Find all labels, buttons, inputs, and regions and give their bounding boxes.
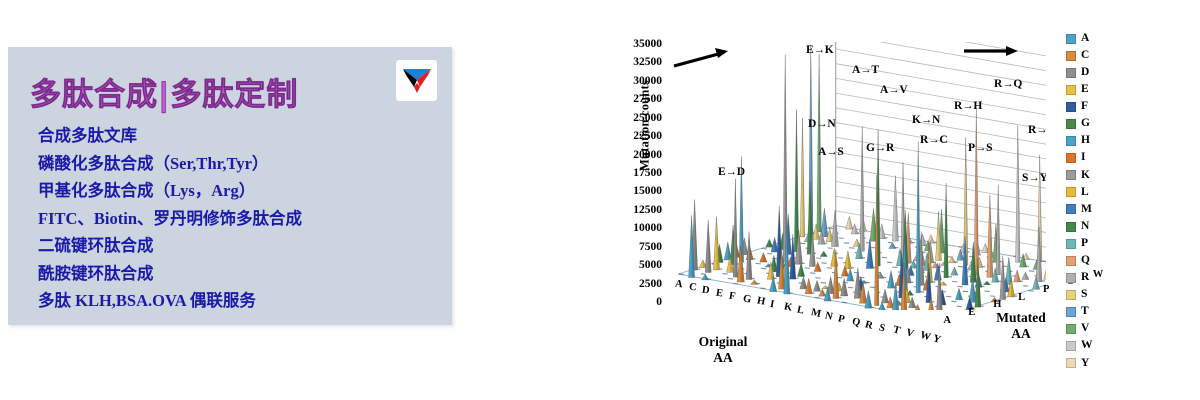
floor-cell-marker (800, 243, 805, 244)
floor-cell-marker (1029, 271, 1034, 272)
list-item: FITC、Biotin、罗丹明修饰多肽合成 (38, 205, 444, 233)
legend-item[interactable]: K (1066, 167, 1122, 184)
legend-item[interactable]: C (1066, 47, 1122, 64)
floor-cell-marker (941, 291, 946, 292)
plot-area: E→KA→TA→VD→NK→NR→CR→HR→QR→WG→RA→SP→SS→YE… (666, 42, 1046, 310)
peak-annotation: D→N (808, 118, 836, 130)
legend-item[interactable]: T (1066, 304, 1122, 321)
legend-label: E (1081, 84, 1089, 96)
z-tick-label: 35000 (633, 38, 662, 50)
peak-annotation: K→N (912, 114, 940, 126)
legend-color-swatch (1066, 85, 1076, 95)
peak-annotation: R→C (920, 134, 948, 146)
legend-item[interactable]: A (1066, 30, 1122, 47)
legend-color-swatch (1066, 34, 1076, 44)
list-item: 二硫键环肽合成 (38, 232, 444, 260)
peak-annotation: P→S (968, 142, 992, 154)
floor-cell-marker (810, 273, 815, 274)
bar-spike-shade (819, 54, 821, 232)
legend-color-swatch (1066, 68, 1076, 78)
peak-annotation: R→Q (994, 78, 1022, 90)
mutation-counts-3d-chart: Mutation counts 350003250030000275002500… (578, 22, 1138, 382)
x-tick-label: P (837, 313, 846, 325)
legend-color-swatch (1066, 102, 1076, 112)
legend-item[interactable]: L (1066, 184, 1122, 201)
x-axis-title-line1: Original (699, 334, 748, 349)
x-tick-label: C (688, 281, 697, 293)
x-tick-label: Y (932, 333, 943, 346)
x-axis-title: Original AA (678, 334, 768, 366)
x-tick-label: G (742, 293, 752, 305)
x-tick-label: A (674, 279, 683, 291)
z-tick-label: 0 (656, 296, 662, 308)
z-tick-label: 27500 (633, 93, 662, 105)
floor-cell-marker (957, 286, 962, 287)
floor-cell-marker (844, 243, 849, 244)
legend-label: K (1081, 170, 1090, 182)
y-tick-label: H (993, 299, 1001, 310)
floor-cell-marker (838, 258, 843, 259)
peak-annotation: G→R (866, 142, 894, 154)
legend-label: I (1081, 152, 1085, 164)
list-item: 合成多肽文库 (38, 122, 444, 150)
x-tick-label: V (905, 327, 915, 340)
floor-cell-marker (815, 297, 820, 298)
floor-cell-marker (887, 262, 892, 263)
legend-color-swatch (1066, 290, 1076, 300)
legend-color-swatch (1066, 187, 1076, 197)
company-logo (396, 60, 437, 101)
floor-cell-marker (892, 267, 897, 268)
floor-cell-marker (756, 263, 761, 264)
x-tick-label: E (715, 287, 724, 299)
x-axis-title-line2: AA (713, 350, 733, 365)
z-tick-label: 7500 (639, 241, 662, 253)
x-tick-label: S (878, 322, 887, 334)
list-item: 多肽 KLH,BSA.OVA 偶联服务 (38, 287, 444, 315)
floor-cell-marker (816, 258, 821, 259)
peak-annotation: R→W (1028, 124, 1046, 136)
legend-color-swatch (1066, 324, 1076, 334)
promo-service-list: 合成多肽文库 磷酸化多肽合成（Ser,Thr,Tyr） 甲基化多肽合成（Lys，… (38, 122, 444, 315)
floor-cell-marker (985, 291, 990, 292)
x-tick-label: N (823, 310, 833, 322)
legend-color-swatch (1066, 273, 1076, 283)
floor-cell-marker (990, 296, 995, 297)
grid-line (836, 93, 1046, 138)
legend-item[interactable]: G (1066, 115, 1122, 132)
peak-annotation: A→V (880, 84, 908, 96)
legend-label: S (1081, 289, 1087, 301)
legend-item[interactable]: P (1066, 235, 1122, 252)
peak-annotation: E→K (806, 44, 834, 56)
z-tick-label: 25000 (633, 112, 662, 124)
floor-cell-marker (842, 302, 847, 303)
floor-cell-marker (828, 228, 833, 229)
legend-color-swatch (1066, 256, 1076, 266)
grid-line (836, 167, 1046, 212)
legend-color-swatch (1066, 341, 1076, 351)
list-item: 磷酸化多肽合成（Ser,Thr,Tyr） (38, 150, 444, 178)
legend-label: M (1081, 204, 1092, 216)
bar-spike-shade (695, 200, 698, 271)
z-tick-label: 10000 (633, 222, 662, 234)
legend-label: G (1081, 118, 1090, 130)
y-tick-label: A (943, 315, 951, 326)
z-tick-label: 15000 (633, 185, 662, 197)
legend-item[interactable]: F (1066, 98, 1122, 115)
x-tick-label: L (796, 304, 805, 316)
floor-cell-marker (761, 268, 766, 269)
y-axis-title-line2: AA (1011, 326, 1031, 341)
floor-cell-marker (952, 281, 957, 282)
y-axis-title-line1: Mutated (996, 310, 1046, 325)
floor-cell-marker (821, 283, 826, 284)
z-tick-label: 2500 (639, 278, 662, 290)
floor-cell-marker (946, 296, 951, 297)
legend-label: L (1081, 187, 1089, 199)
peak-annotation: S→Y (1022, 172, 1046, 184)
legend-item[interactable]: I (1066, 150, 1122, 167)
x-tick-label: K (783, 301, 793, 313)
floor-cell-marker (848, 287, 853, 288)
legend-label: T (1081, 306, 1089, 318)
y-tick-label: E (968, 307, 975, 318)
peak-annotation: A→S (818, 146, 844, 158)
floor-cell-marker (837, 277, 842, 278)
floor-cell-marker (958, 266, 963, 267)
legend-color-swatch (1066, 170, 1076, 180)
legend-item[interactable]: N (1066, 218, 1122, 235)
peak-annotation: R→H (954, 100, 982, 112)
legend-item[interactable]: Y (1066, 355, 1122, 372)
chart-legend: ACDEFGHIKLMNPQRSTVWY (1066, 30, 1122, 372)
floor-cell-marker (951, 301, 956, 302)
z-axis-ticks: 3500032500300002750025000225002000017500… (600, 44, 662, 302)
peak-annotation: E→D (718, 166, 745, 178)
floor-cell-marker (805, 268, 810, 269)
y-tick-label: L (1018, 292, 1025, 303)
legend-label: H (1081, 135, 1090, 147)
promo-title: 多肽合成|多肽定制 (30, 69, 298, 114)
floor-cell-marker (957, 306, 962, 307)
z-tick-label: 22500 (633, 130, 662, 142)
legend-item[interactable]: D (1066, 64, 1122, 81)
floor-cell-marker (1028, 291, 1033, 292)
floor-cell-marker (728, 278, 733, 279)
legend-label: V (1081, 323, 1089, 335)
legend-label: C (1081, 50, 1089, 62)
legend-color-swatch (1066, 153, 1076, 163)
y-axis-title: Mutated AA (976, 310, 1066, 342)
legend-item[interactable]: W (1066, 338, 1122, 355)
list-item: 酰胺键环肽合成 (38, 260, 444, 288)
floor-cell-marker (839, 238, 844, 239)
legend-item[interactable]: R (1066, 269, 1122, 286)
legend-label: P (1081, 238, 1088, 250)
legend-color-swatch (1066, 239, 1076, 249)
legend-color-swatch (1066, 358, 1076, 368)
legend-item[interactable]: Q (1066, 252, 1122, 269)
legend-color-swatch (1066, 204, 1076, 214)
z-tick-label: 32500 (633, 56, 662, 68)
floor-cell-marker (882, 257, 887, 258)
grid-line (836, 42, 1046, 64)
legend-color-swatch (1066, 51, 1076, 61)
floor-cell-marker (733, 283, 738, 284)
floor-cell-marker (963, 291, 968, 292)
legend-label: Y (1081, 358, 1089, 370)
floor-cell-marker (821, 263, 826, 264)
floor-cell-marker (815, 278, 820, 279)
floor-cell-marker (859, 277, 864, 278)
x-tick-label: D (701, 284, 710, 296)
floor-cell-marker (767, 253, 772, 254)
z-tick-label: 17500 (633, 167, 662, 179)
legend-item[interactable]: S (1066, 286, 1122, 303)
legend-color-swatch (1066, 136, 1076, 146)
legend-color-swatch (1066, 222, 1076, 232)
legend-item[interactable]: E (1066, 81, 1122, 98)
floor-cell-marker (849, 248, 854, 249)
legend-label: A (1081, 33, 1089, 45)
legend-label: R (1081, 272, 1089, 284)
x-tick-label: W (918, 330, 931, 344)
y-tick-label: P (1043, 284, 1049, 295)
trend-arrow-left (674, 48, 728, 66)
floor-cell-marker (762, 248, 767, 249)
z-tick-label: 30000 (633, 75, 662, 87)
x-tick-label: H (756, 296, 766, 308)
legend-color-swatch (1066, 307, 1076, 317)
legend-label: Q (1081, 255, 1090, 267)
floor-cell-marker (870, 287, 875, 288)
company-logo-triangle-icon (400, 65, 434, 97)
floor-cell-marker (722, 274, 727, 275)
floor-cell-marker (679, 274, 684, 275)
peak-annotation: A→T (852, 64, 879, 76)
z-tick-label: 5000 (639, 259, 662, 271)
legend-label: N (1081, 221, 1089, 233)
list-item: 甲基化多肽合成（Lys，Arg） (38, 177, 444, 205)
promo-panel: 多肽合成|多肽定制 合成多肽文库 磷酸化多肽合成（Ser,Thr,Tyr） 甲基… (8, 47, 452, 325)
legend-item[interactable]: M (1066, 201, 1122, 218)
legend-label: F (1081, 101, 1088, 113)
legend-item[interactable]: V (1066, 321, 1122, 338)
floor-cell-marker (1023, 286, 1028, 287)
floor-cell-marker (827, 248, 832, 249)
legend-color-swatch (1066, 119, 1076, 129)
trend-arrows (674, 46, 1018, 66)
x-tick-label: Q (851, 316, 862, 329)
floor-cell-marker (827, 268, 832, 269)
legend-item[interactable]: H (1066, 133, 1122, 150)
legend-label: W (1081, 340, 1093, 352)
floor-cell-marker (760, 288, 765, 289)
x-tick-label: M (810, 307, 822, 320)
bar-spike-shade (720, 244, 724, 262)
trend-arrow-right (964, 46, 1018, 56)
x-tick-label: R (864, 319, 874, 332)
z-tick-label: 12500 (633, 204, 662, 216)
x-tick-label: T (891, 325, 901, 337)
grid-line (836, 152, 1046, 197)
legend-label: D (1081, 67, 1089, 79)
bar-spike-shade (908, 212, 911, 263)
z-tick-label: 20000 (633, 149, 662, 161)
